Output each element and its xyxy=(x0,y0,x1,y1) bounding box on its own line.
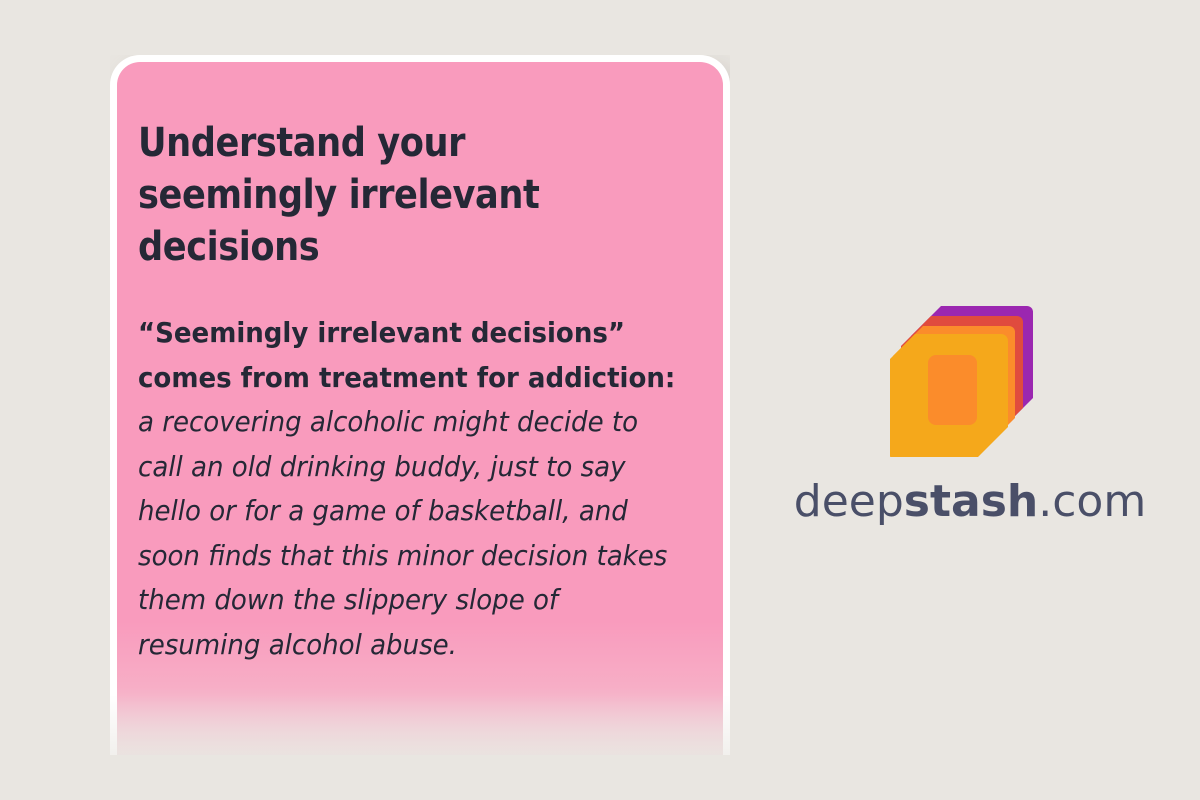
brand-wordmark: deepstash.com xyxy=(790,480,1150,524)
wordmark-emphasis: stash xyxy=(904,476,1038,527)
idea-card-container: Understand your seemingly irrelevant dec… xyxy=(110,55,730,755)
brand-block: deepstash.com xyxy=(790,300,1150,550)
deepstash-logo xyxy=(890,300,1040,460)
wordmark-prefix: deep xyxy=(794,476,904,527)
idea-card[interactable]: Understand your seemingly irrelevant dec… xyxy=(110,55,730,755)
card-body-lead: “Seemingly irrelevant decisions” comes f… xyxy=(138,316,675,394)
wordmark-suffix: .com xyxy=(1038,476,1146,527)
card-title: Understand your seemingly irrelevant dec… xyxy=(138,117,578,273)
card-body-text: “Seemingly irrelevant decisions” comes f… xyxy=(138,311,677,667)
